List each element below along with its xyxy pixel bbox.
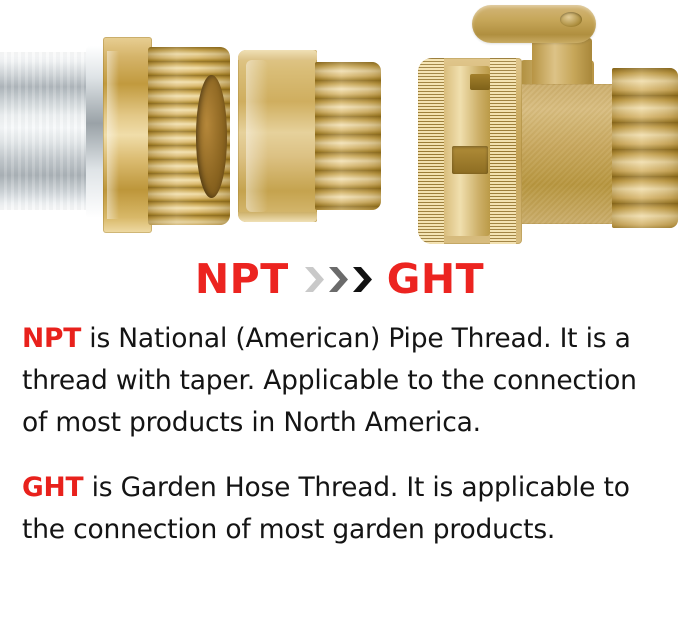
paragraph-npt: NPT is National (American) Pipe Thread. … <box>22 318 670 444</box>
chevron-right-icon-2 <box>327 266 349 293</box>
paragraph-ght: GHT is Garden Hose Thread. It is applica… <box>22 467 670 551</box>
swivel-nut-notch <box>470 74 490 90</box>
adapter-thread-shading <box>315 62 381 210</box>
chevron-right-icon-3 <box>351 266 373 293</box>
paragraph-ght-text: is Garden Hose Thread. It is applicable … <box>22 472 630 545</box>
title-ght: GHT <box>387 259 484 300</box>
brass-hex-shoulder <box>103 37 152 233</box>
title-row: NPT GHT <box>0 256 679 302</box>
knurl-ridges-right <box>490 58 516 244</box>
ght-thread-shading <box>612 68 678 228</box>
chevron-right-icon-1 <box>303 266 325 293</box>
description-copy: NPT is National (American) Pipe Thread. … <box>22 318 670 551</box>
keyword-ght: GHT <box>22 472 83 503</box>
knurled-swivel-nut <box>418 58 522 244</box>
thread-bore <box>196 75 227 198</box>
swivel-nut-slot <box>452 146 488 174</box>
hex-nut-top-bevel <box>238 50 317 60</box>
infographic-page: NPT GHT NPT is National (American) Pipe … <box>0 0 679 641</box>
triple-chevron-right-icon <box>303 266 373 293</box>
hex-nut-body <box>238 50 317 222</box>
knurl-ridges-left <box>418 58 444 244</box>
keyword-npt: NPT <box>22 323 81 354</box>
title-npt: NPT <box>195 259 289 300</box>
lever-handle <box>472 5 596 43</box>
product-photo-band <box>0 0 679 258</box>
paragraph-npt-text: is National (American) Pipe Thread. It i… <box>22 323 637 438</box>
hex-nut-bottom-bevel <box>238 212 317 222</box>
